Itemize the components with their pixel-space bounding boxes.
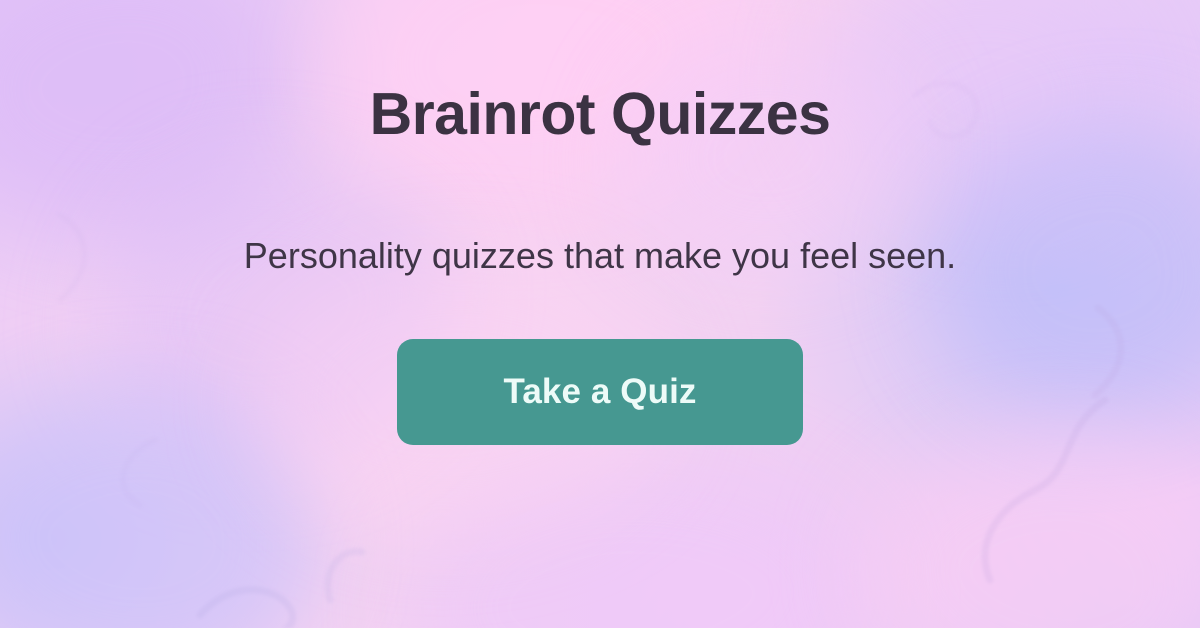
cta-container: Take a Quiz xyxy=(0,339,1200,445)
hero-content: Brainrot Quizzes Personality quizzes tha… xyxy=(0,0,1200,628)
hero-banner: Brainrot Quizzes Personality quizzes tha… xyxy=(0,0,1200,628)
page-title: Brainrot Quizzes xyxy=(370,84,831,146)
hero-subtitle: Personality quizzes that make you feel s… xyxy=(244,234,956,277)
take-a-quiz-button[interactable]: Take a Quiz xyxy=(397,339,803,445)
